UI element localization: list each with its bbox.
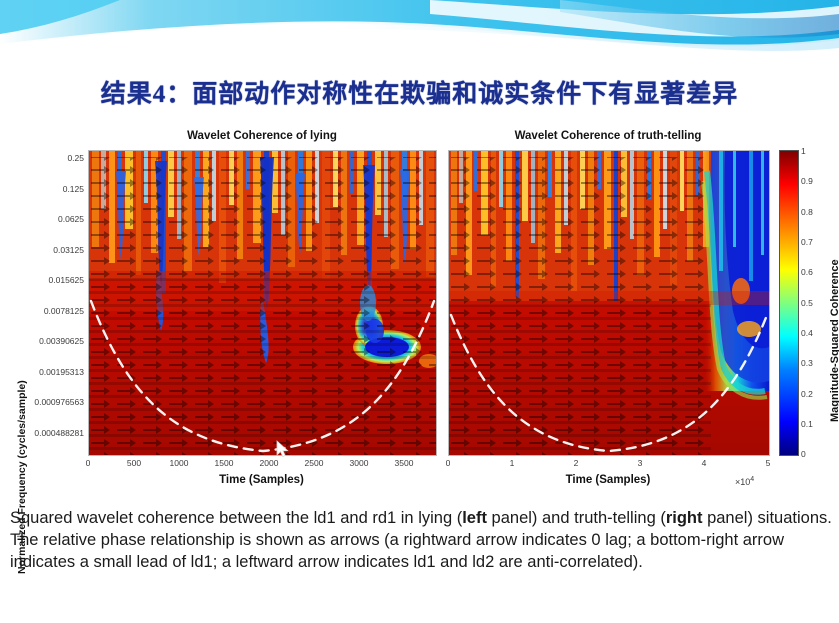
x-tick-right-2: 2 bbox=[560, 458, 592, 468]
cb-tick-3: 0.7 bbox=[801, 237, 813, 247]
figure-container: Normalized Frequency (cycles/sample) Wav… bbox=[0, 122, 839, 502]
caption-part1: Squared wavelet coherence between the ld… bbox=[10, 509, 462, 527]
x-tick-left-0: 0 bbox=[72, 458, 104, 468]
cb-tick-6: 0.4 bbox=[801, 328, 813, 338]
exponent-base: ×10 bbox=[735, 477, 750, 487]
x-tick-left-5: 2500 bbox=[298, 458, 330, 468]
left-x-axis-label: Time (Samples) bbox=[88, 474, 435, 486]
y-tick-1: 0.125 bbox=[0, 184, 84, 194]
right-panel-title: Wavelet Coherence of truth-telling bbox=[448, 130, 768, 142]
page-title: 结果4：面部动作对称性在欺骗和诚实条件下有显著差异 bbox=[0, 74, 839, 110]
colorbar-label: Magnitude-Squared Coherence bbox=[829, 259, 839, 422]
x-tick-left-3: 1500 bbox=[208, 458, 240, 468]
cb-tick-9: 0.1 bbox=[801, 419, 813, 429]
y-tick-4: 0.015625 bbox=[0, 275, 84, 285]
left-panel-plot[interactable] bbox=[88, 150, 437, 456]
cb-tick-10: 0 bbox=[801, 449, 806, 459]
x-axis-exponent: ×104 bbox=[735, 476, 754, 487]
cb-tick-2: 0.8 bbox=[801, 207, 813, 217]
x-tick-left-1: 500 bbox=[118, 458, 150, 468]
y-tick-0: 0.25 bbox=[0, 153, 84, 163]
y-tick-3: 0.03125 bbox=[0, 245, 84, 255]
x-tick-right-0: 0 bbox=[432, 458, 464, 468]
y-tick-5: 0.0078125 bbox=[0, 306, 84, 316]
x-tick-left-4: 2000 bbox=[253, 458, 285, 468]
figure-caption: Squared wavelet coherence between the ld… bbox=[10, 508, 832, 573]
right-x-axis-label: Time (Samples) bbox=[448, 474, 768, 486]
y-tick-8: 0.000976563 bbox=[0, 397, 84, 407]
decorative-wave-banner bbox=[0, 0, 839, 70]
left-panel-title: Wavelet Coherence of lying bbox=[88, 130, 436, 142]
cb-tick-1: 0.9 bbox=[801, 176, 813, 186]
y-tick-7: 0.00195313 bbox=[0, 367, 84, 377]
y-tick-6: 0.00390625 bbox=[0, 336, 84, 346]
x-tick-right-1: 1 bbox=[496, 458, 528, 468]
caption-bold-left: left bbox=[462, 509, 487, 527]
cb-tick-4: 0.6 bbox=[801, 267, 813, 277]
caption-bold-right: right bbox=[666, 509, 703, 527]
cb-tick-7: 0.3 bbox=[801, 358, 813, 368]
x-tick-right-4: 4 bbox=[688, 458, 720, 468]
y-tick-2: 0.0625 bbox=[0, 214, 84, 224]
mouse-pointer bbox=[276, 440, 290, 458]
cb-tick-8: 0.2 bbox=[801, 389, 813, 399]
exponent-power: 4 bbox=[750, 476, 754, 483]
colorbar[interactable] bbox=[779, 150, 799, 456]
cb-tick-0: 1 bbox=[801, 146, 806, 156]
y-tick-9: 0.000488281 bbox=[0, 428, 84, 438]
caption-part2: panel) and truth-telling ( bbox=[487, 509, 666, 527]
right-panel-plot[interactable] bbox=[448, 150, 770, 456]
x-tick-right-5: 5 bbox=[752, 458, 784, 468]
x-tick-left-6: 3000 bbox=[343, 458, 375, 468]
x-tick-left-2: 1000 bbox=[163, 458, 195, 468]
x-tick-right-3: 3 bbox=[624, 458, 656, 468]
cb-tick-5: 0.5 bbox=[801, 298, 813, 308]
x-tick-left-7: 3500 bbox=[388, 458, 420, 468]
